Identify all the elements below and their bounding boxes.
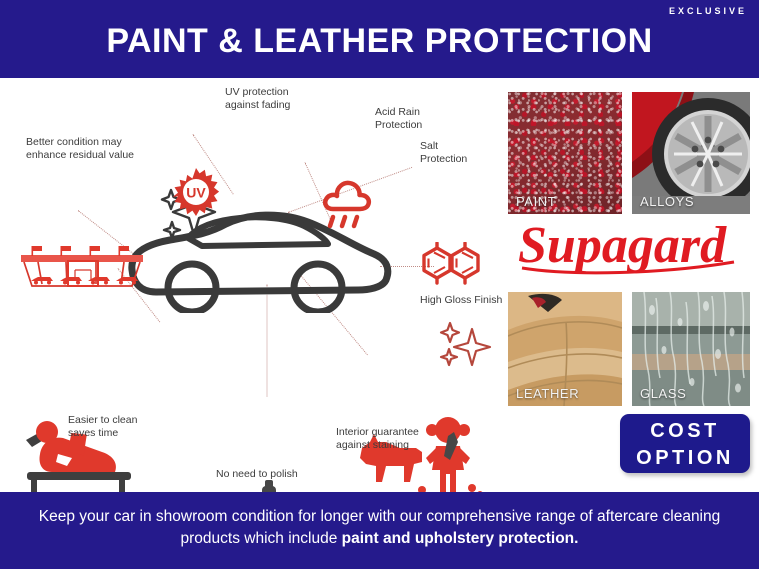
uv-sun-icon: UV xyxy=(172,168,220,216)
uv-icon-text: UV xyxy=(186,185,206,201)
label-easier-to-clean: Easier to clean saves time xyxy=(68,414,168,439)
label-line: Acid Rain xyxy=(375,106,461,119)
label-line: Salt xyxy=(420,140,500,153)
tile-glass: GLASS xyxy=(632,292,750,406)
label-residual-value: Better condition may enhance residual va… xyxy=(26,136,150,161)
label-no-polish: No need to polish xyxy=(216,468,326,481)
label-line: Easier to clean xyxy=(68,414,168,427)
label-line: Protection xyxy=(420,153,500,166)
label-line: UV protection xyxy=(225,86,325,99)
salt-molecule-icon xyxy=(420,242,482,290)
tile-label-leather: LEATHER xyxy=(516,386,579,401)
tile-label-glass: GLASS xyxy=(640,386,686,401)
label-interior-guarantee: Interior guarantee against staining xyxy=(336,426,446,451)
cost-option-badge[interactable]: COST OPTION xyxy=(620,414,750,473)
label-line: Protection xyxy=(375,119,461,132)
label-line: No need to polish xyxy=(216,468,326,481)
label-line: against fading xyxy=(225,99,325,112)
supagard-wordmark: Supagard xyxy=(518,218,727,274)
tile-paint: PAINT xyxy=(508,92,622,214)
exclusive-eyebrow: EXCLUSIVE xyxy=(669,6,747,16)
footer-text-bold: paint and upholstery protection. xyxy=(342,530,579,547)
label-acid-rain: Acid Rain Protection xyxy=(375,106,461,131)
label-salt-protection: Salt Protection xyxy=(420,140,500,165)
tile-alloys: ALLOYS xyxy=(632,92,750,214)
label-uv-protection: UV protection against fading xyxy=(225,86,325,111)
cost-option-line1: COST xyxy=(620,414,750,445)
cost-option-line2: OPTION xyxy=(620,445,750,472)
tile-label-paint: PAINT xyxy=(516,194,556,209)
poster: EXCLUSIVE PAINT & LEATHER PROTECTION xyxy=(0,0,759,569)
footer-band: Keep your car in showroom condition for … xyxy=(0,492,759,569)
rain-cloud-icon xyxy=(322,176,372,234)
car-showroom-icon xyxy=(18,246,146,290)
label-line: against staining xyxy=(336,439,446,452)
page-title: PAINT & LEATHER PROTECTION xyxy=(0,22,759,61)
label-line: Better condition may xyxy=(26,136,150,149)
label-line: Interior guarantee xyxy=(336,426,446,439)
label-line: saves time xyxy=(68,427,168,440)
label-line: enhance residual value xyxy=(26,149,150,162)
supagard-logo: Supagard xyxy=(512,218,750,276)
footer-text: Keep your car in showroom condition for … xyxy=(18,506,741,550)
sparkle-icon-gloss xyxy=(434,321,496,373)
tile-label-alloys: ALLOYS xyxy=(640,194,694,209)
header-band: EXCLUSIVE PAINT & LEATHER PROTECTION xyxy=(0,0,759,78)
tile-leather: LEATHER xyxy=(508,292,622,406)
